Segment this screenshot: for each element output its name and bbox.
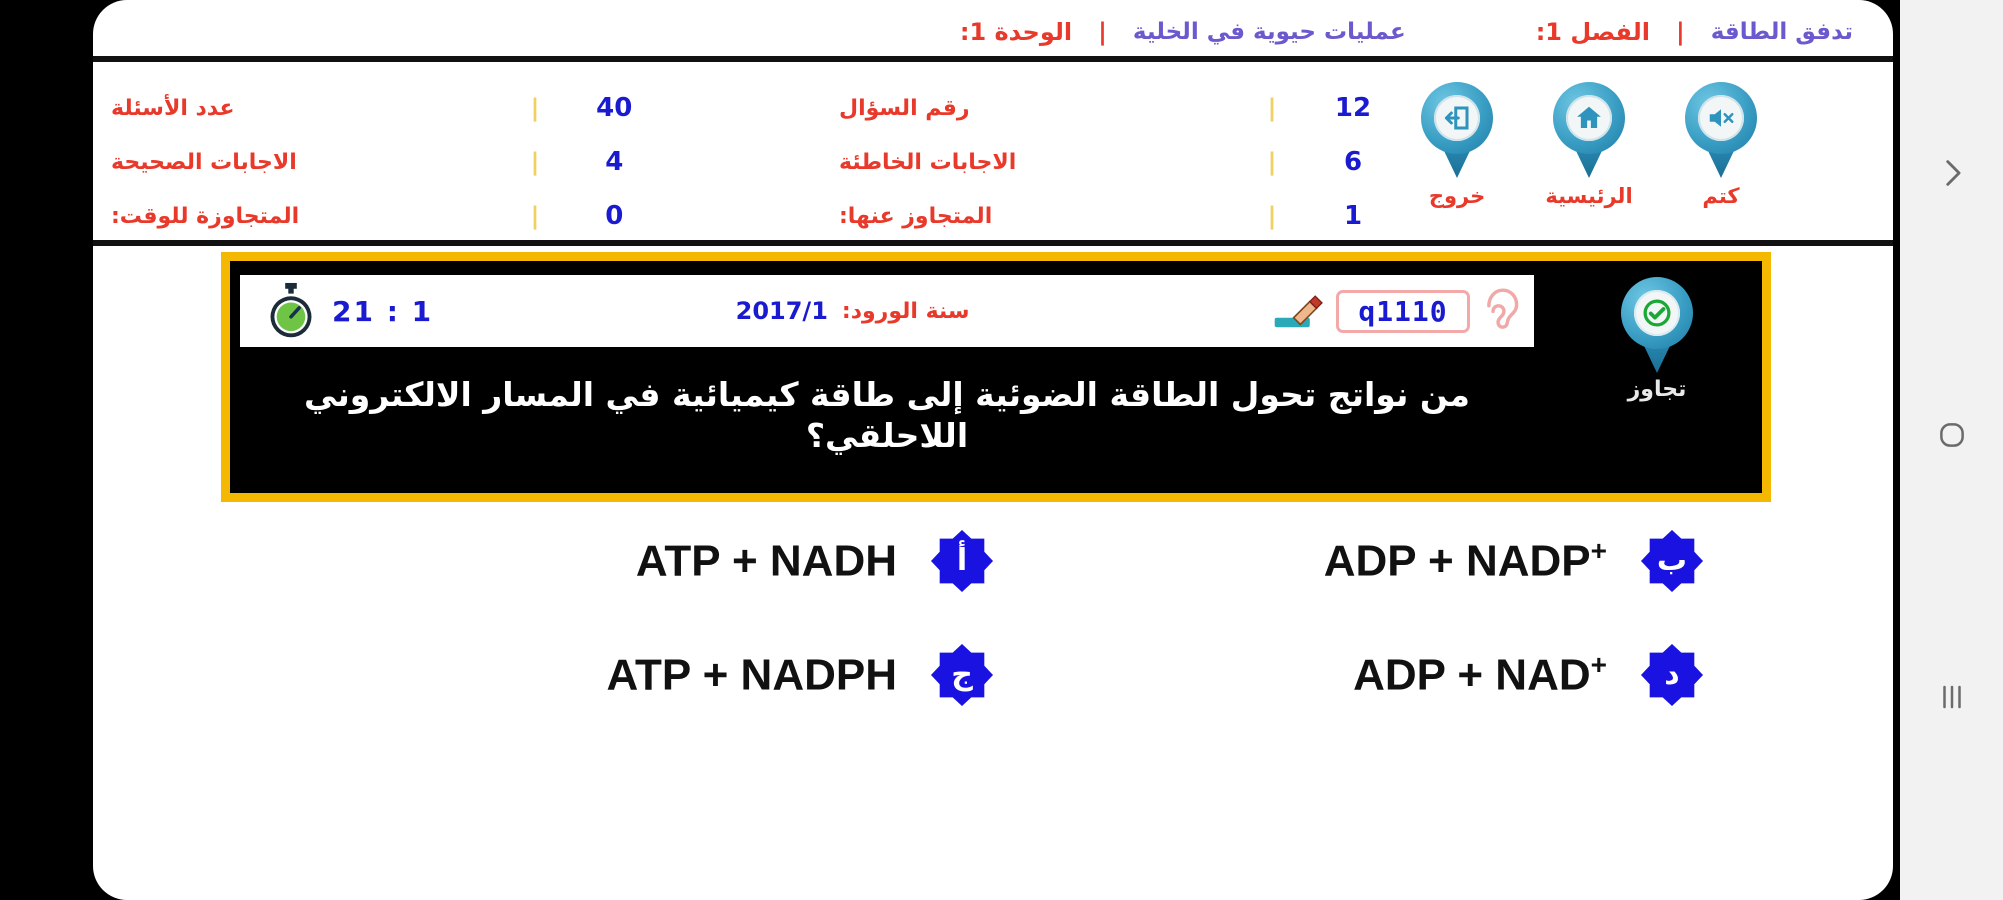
question-timer-group: 1 : 21 <box>264 282 433 340</box>
answer-text: ATP + NADH <box>636 535 897 587</box>
stat-row: 4 | الاجابات الصحيحة <box>93 138 673 186</box>
answer-options: ب ADP + NADP+ أ ATP + NADH د ADP + NAD+ <box>243 530 1763 706</box>
stat-row: 40 | عدد الأسئلة <box>93 84 673 132</box>
pin-disc <box>1566 95 1612 141</box>
stat-row: 1 | المتجاوز عنها: <box>753 192 1413 240</box>
answer-badge: ب <box>1641 530 1703 592</box>
answer-option-d[interactable]: د ADP + NAD+ <box>1013 644 1763 706</box>
stat-value: 4 <box>556 147 673 177</box>
nav-pin-label: كتم <box>1702 184 1739 208</box>
question-panel: تجاوز q1110 <box>221 252 1771 502</box>
timer-value: 1 : 21 <box>332 295 433 328</box>
stat-separator: | <box>514 202 555 230</box>
divider-bottom <box>93 240 1893 246</box>
answer-text-main: ADP + NADP <box>1324 537 1591 586</box>
check-circle-icon <box>1642 298 1672 328</box>
divider-top <box>93 56 1893 62</box>
stat-row: 6 | الاجابات الخاطئة <box>753 138 1413 186</box>
stat-separator: | <box>1251 148 1293 176</box>
answer-option-a[interactable]: أ ATP + NADH <box>243 530 993 592</box>
nav-pin-group: كتم الرئيسية <box>1413 66 1789 208</box>
answer-badge: د <box>1641 644 1703 706</box>
question-year-group: سنة الورود: 2017/1 <box>736 297 970 325</box>
system-back-button[interactable] <box>1929 150 1975 196</box>
home-circle-icon <box>1937 420 1967 450</box>
answer-letter: ج <box>951 660 973 690</box>
skip-label: تجاوز <box>1628 377 1687 402</box>
stat-label: رقم السؤال <box>821 96 1251 121</box>
stats-bar: 40 | عدد الأسئلة 4 | الاجابات الصحيحة 0 … <box>93 66 1893 238</box>
year-label: سنة الورود: <box>842 299 970 324</box>
pin-shape <box>1421 82 1493 178</box>
pin-shape <box>1685 82 1757 178</box>
breadcrumb-unit-label: الوحدة 1: <box>960 18 1072 46</box>
answer-text: ADP + NADP+ <box>1324 535 1607 587</box>
nav-pin-label: خروج <box>1429 184 1485 208</box>
pin-shape <box>1621 277 1693 373</box>
nav-pin-label: الرئيسية <box>1545 184 1632 208</box>
question-id-group: q1110 <box>1272 285 1522 337</box>
answer-text: ADP + NAD+ <box>1353 649 1607 701</box>
stat-label: المتجاوز عنها: <box>821 204 1251 229</box>
system-recents-button[interactable] <box>1929 674 1975 720</box>
stat-label: المتجاوزة للوقت: <box>93 204 514 229</box>
question-content: q1110 سنة الورود: 2017/1 <box>230 261 1552 493</box>
writing-hand-icon <box>1272 292 1326 330</box>
answer-letter: ب <box>1657 546 1687 576</box>
answer-text-main: ATP + NADPH <box>606 651 897 700</box>
stat-value: 12 <box>1293 93 1413 123</box>
stat-separator: | <box>1251 94 1293 122</box>
answer-text-sup: + <box>1591 535 1607 566</box>
answer-badge: أ <box>931 530 993 592</box>
answer-text-sup: + <box>1591 649 1607 680</box>
screen-root: تدفق الطاقة | الفصل 1: عمليات حيوية في ا… <box>0 0 2003 900</box>
back-icon <box>1935 156 1969 190</box>
breadcrumb-chapter-label: الفصل 1: <box>1536 18 1650 46</box>
mute-icon <box>1706 103 1736 133</box>
stats-column-middle: 12 | رقم السؤال 6 | الاجابات الخاطئة 1 |… <box>753 66 1413 240</box>
pin-disc <box>1698 95 1744 141</box>
quiz-app-card: تدفق الطاقة | الفصل 1: عمليات حيوية في ا… <box>93 0 1893 900</box>
answer-badge: ج <box>931 644 993 706</box>
pin-shape <box>1553 82 1625 178</box>
breadcrumb-unit-value: عمليات حيوية في الخلية <box>1133 19 1406 45</box>
question-id-value: q1110 <box>1358 295 1447 328</box>
breadcrumb-unit-group: عمليات حيوية في الخلية | الوحدة 1: <box>960 18 1406 46</box>
answer-text-main: ATP + NADH <box>636 537 897 586</box>
pin-disc <box>1434 95 1480 141</box>
pin-disc <box>1634 290 1680 336</box>
breadcrumb-separator-2: | <box>1098 18 1107 46</box>
answer-text: ATP + NADPH <box>606 649 897 701</box>
system-home-button[interactable] <box>1929 412 1975 458</box>
skip-button[interactable]: تجاوز <box>1552 261 1762 493</box>
stat-label: عدد الأسئلة <box>93 96 514 121</box>
stat-value: 1 <box>1293 201 1413 231</box>
stat-separator: | <box>1251 202 1293 230</box>
stopwatch-icon <box>264 282 318 340</box>
question-meta-bar: q1110 سنة الورود: 2017/1 <box>240 275 1534 347</box>
answer-text-main: ADP + NAD <box>1353 651 1591 700</box>
stat-value: 6 <box>1293 147 1413 177</box>
nav-pin-home[interactable]: الرئيسية <box>1545 82 1633 208</box>
answer-letter: د <box>1664 660 1679 690</box>
stats-column-right: 40 | عدد الأسئلة 4 | الاجابات الصحيحة 0 … <box>93 66 753 240</box>
stat-value: 0 <box>556 201 673 231</box>
stat-row: 12 | رقم السؤال <box>753 84 1413 132</box>
recents-icon <box>1937 682 1967 712</box>
nav-pin-mute[interactable]: كتم <box>1677 82 1765 208</box>
system-navigation-bar <box>1900 0 2003 900</box>
question-id-box: q1110 <box>1336 290 1470 333</box>
year-value: 2017/1 <box>736 297 828 325</box>
breadcrumb-chapter-value: تدفق الطاقة <box>1711 19 1853 45</box>
stat-label: الاجابات الصحيحة <box>93 150 514 175</box>
stat-separator: | <box>514 94 555 122</box>
breadcrumb-chapter-group: تدفق الطاقة | الفصل 1: <box>1536 18 1853 46</box>
breadcrumb-separator: | <box>1676 18 1685 46</box>
ear-icon <box>1480 285 1522 337</box>
answer-option-c[interactable]: ج ATP + NADPH <box>243 644 993 706</box>
stat-label: الاجابات الخاطئة <box>821 150 1251 175</box>
exit-icon <box>1442 103 1472 133</box>
answer-letter: أ <box>957 546 967 576</box>
question-text: من نواتج تحول الطاقة الضوئية إلى طاقة كي… <box>240 347 1534 483</box>
answer-option-b[interactable]: ب ADP + NADP+ <box>1013 530 1763 592</box>
stat-separator: | <box>514 148 555 176</box>
stat-row: 0 | المتجاوزة للوقت: <box>93 192 673 240</box>
nav-pin-exit[interactable]: خروج <box>1413 82 1501 208</box>
breadcrumb: تدفق الطاقة | الفصل 1: عمليات حيوية في ا… <box>93 0 1893 58</box>
stat-value: 40 <box>556 93 673 123</box>
home-icon <box>1574 103 1604 133</box>
